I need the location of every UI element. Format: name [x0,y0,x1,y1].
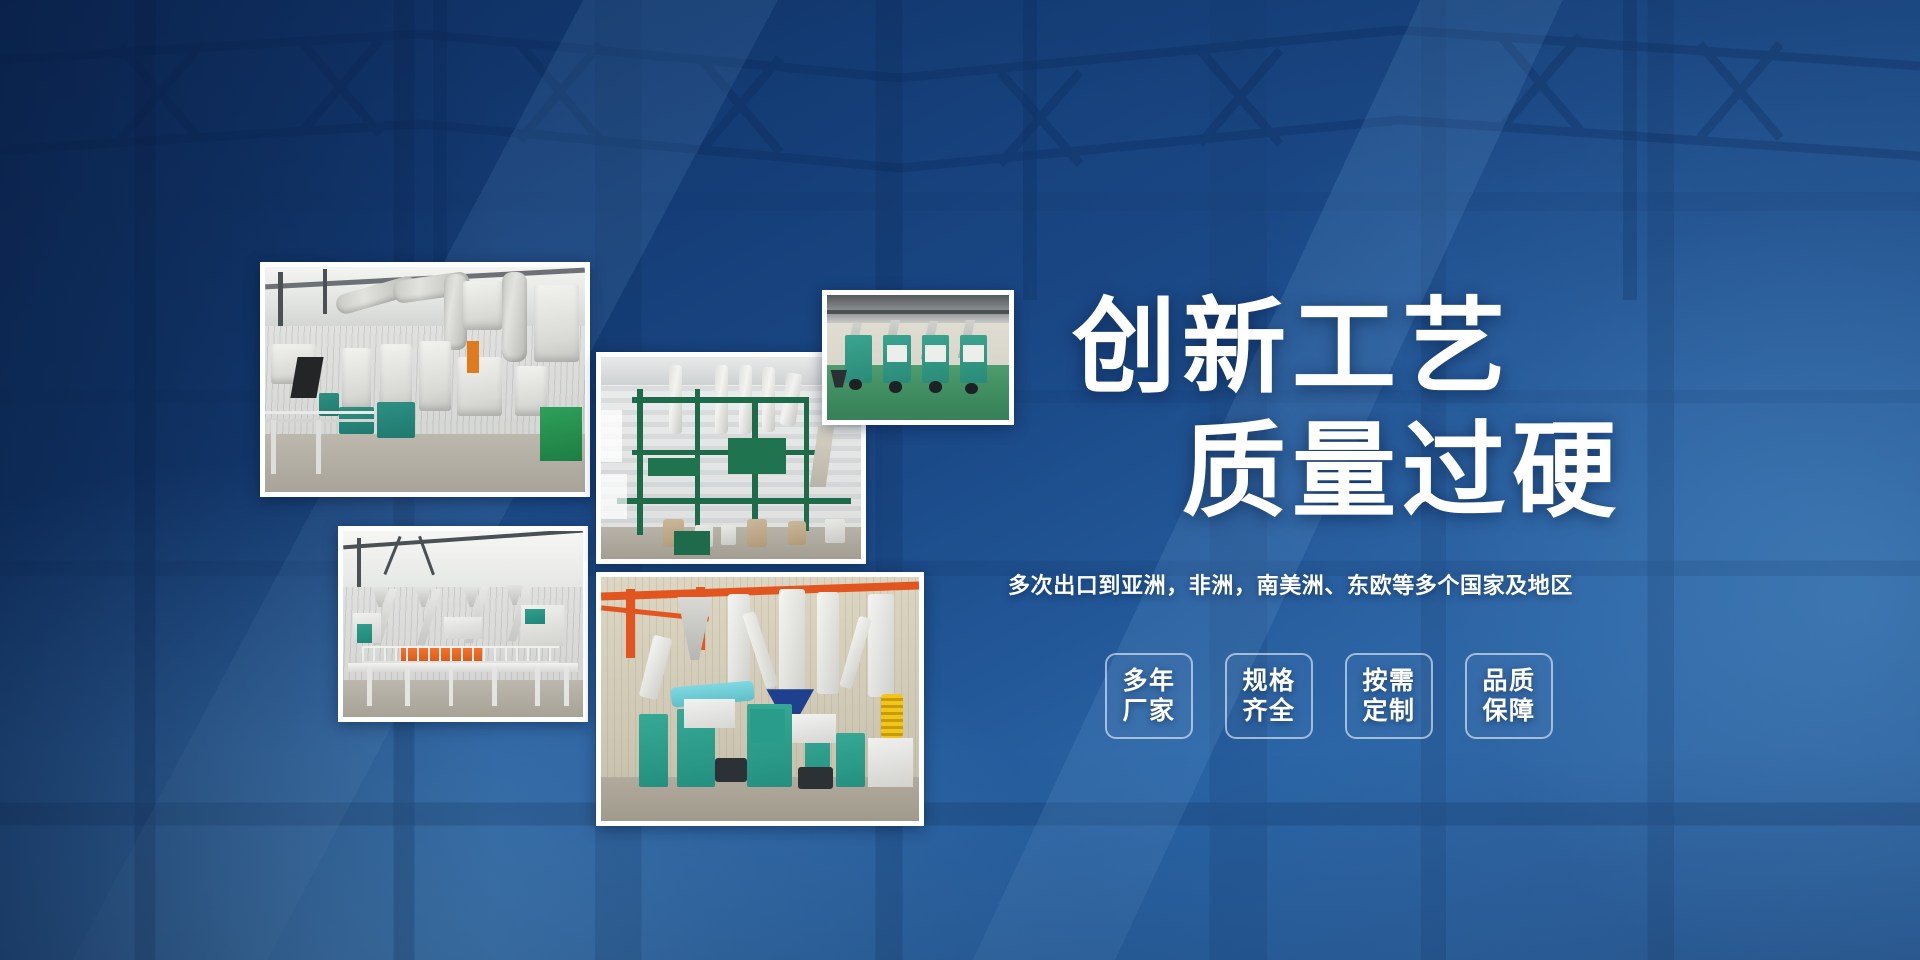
badge-line-1: 规格 [1242,666,1295,697]
collage-photo-2 [822,290,1014,425]
badge-line-1: 按需 [1362,666,1415,697]
feature-badge-custom[interactable]: 按需 定制 [1345,653,1433,739]
promotional-banner: 创新工艺 质量过硬 多次出口到亚洲，非洲，南美洲、东欧等多个国家及地区 多年 厂… [0,0,1920,960]
collage-photo-4 [338,526,588,722]
photo-collage [0,0,1100,960]
badge-line-2: 厂家 [1122,696,1175,727]
badge-line-2: 保障 [1482,696,1535,727]
feature-badge-list: 多年 厂家 规格 齐全 按需 定制 品质 保障 [1105,653,1553,739]
badge-line-1: 品质 [1482,666,1535,697]
banner-subtitle: 多次出口到亚洲，非洲，南美洲、东欧等多个国家及地区 [1008,568,1573,600]
headline-line-2: 质量过硬 [1182,420,1622,524]
headline-line-1: 创新工艺 [1072,296,1512,400]
collage-photo-1 [260,262,590,497]
banner-content: 创新工艺 质量过硬 多次出口到亚洲，非洲，南美洲、东欧等多个国家及地区 多年 厂… [1000,0,1920,960]
feature-badge-specs[interactable]: 规格 齐全 [1225,653,1313,739]
badge-line-2: 齐全 [1242,696,1295,727]
feature-badge-years[interactable]: 多年 厂家 [1105,653,1193,739]
badge-line-1: 多年 [1122,666,1175,697]
feature-badge-quality[interactable]: 品质 保障 [1465,653,1553,739]
collage-photo-5 [596,572,924,826]
badge-line-2: 定制 [1362,696,1415,727]
